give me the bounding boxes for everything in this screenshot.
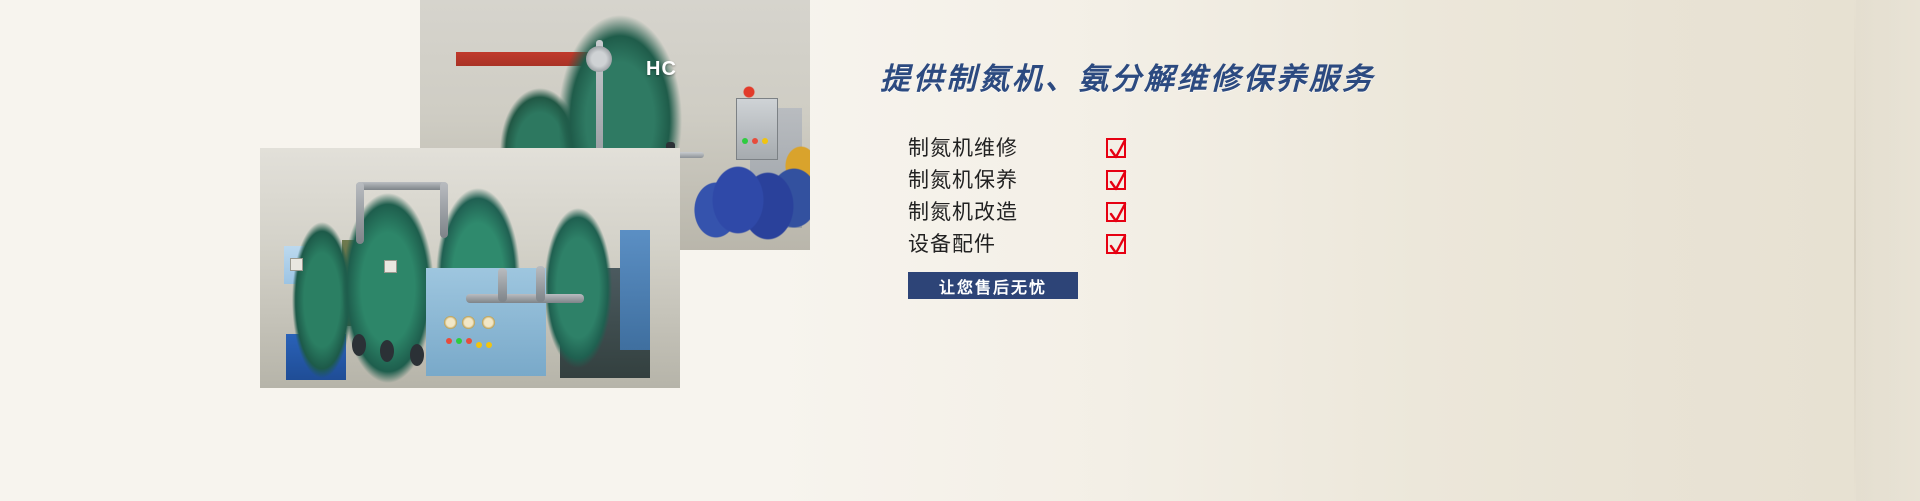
pressure-gauge-1 [444,316,457,329]
service-label: 制氮机维修 [908,132,1088,164]
checkmark-icon [1106,234,1126,254]
pressure-gauge-3 [482,316,495,329]
list-item: 制氮机改造 [880,196,1520,228]
checkmark-icon [1106,170,1126,190]
skid-led-yellow-2 [486,342,492,348]
page-title: 提供制氮机、氨分解维修保养服务 [880,62,1520,98]
service-list: 制氮机维修 制氮机保养 制氮机改造 [880,132,1520,260]
skid-handwheel-2 [380,340,394,362]
vessel-nameplate-2 [384,260,397,273]
skid-led-green [456,338,462,344]
checkmark-icon [1106,202,1126,222]
photo-collage: HC [250,0,810,400]
cta-button[interactable]: 让您售后无忧 [908,272,1078,299]
skid-handwheel-1 [352,334,366,356]
skid-down-pipe [356,182,364,244]
skid-manifold-pipe [466,294,584,303]
tank-flange-icon [586,46,612,72]
promo-banner: HC [0,0,1920,501]
pressure-gauge-2 [462,316,475,329]
checkmark-icon [1106,138,1126,158]
skid-led-yellow [476,342,482,348]
skid-riser-a [498,268,507,302]
background-wall-seam [1854,0,1856,501]
service-label: 设备配件 [908,228,1088,260]
panel-led-yellow [762,138,768,144]
background-wall-panel [1856,0,1920,501]
skid-down-pipe-2 [440,182,448,238]
panel-led-red [752,138,758,144]
control-panel-box [736,98,778,160]
vessel-nameplate-1 [290,258,303,271]
banner-content: 提供制氮机、氨分解维修保养服务 制氮机维修 制氮机保养 [880,62,1520,299]
skid-riser-b [536,266,545,302]
panel-led-green [742,138,748,144]
list-item: 制氮机保养 [880,164,1520,196]
skid-led-red [446,338,452,344]
list-item: 设备配件 [880,228,1520,260]
list-item: 制氮机维修 [880,132,1520,164]
skid-top-pipe [356,182,448,190]
skid-handwheel-3 [410,344,424,366]
tank-brand-logo: HC [646,58,677,81]
skid-led-red-2 [466,338,472,344]
service-label: 制氮机改造 [908,196,1088,228]
service-label: 制氮机保养 [908,164,1088,196]
nitrogen-generator-skid-photo [260,148,680,388]
